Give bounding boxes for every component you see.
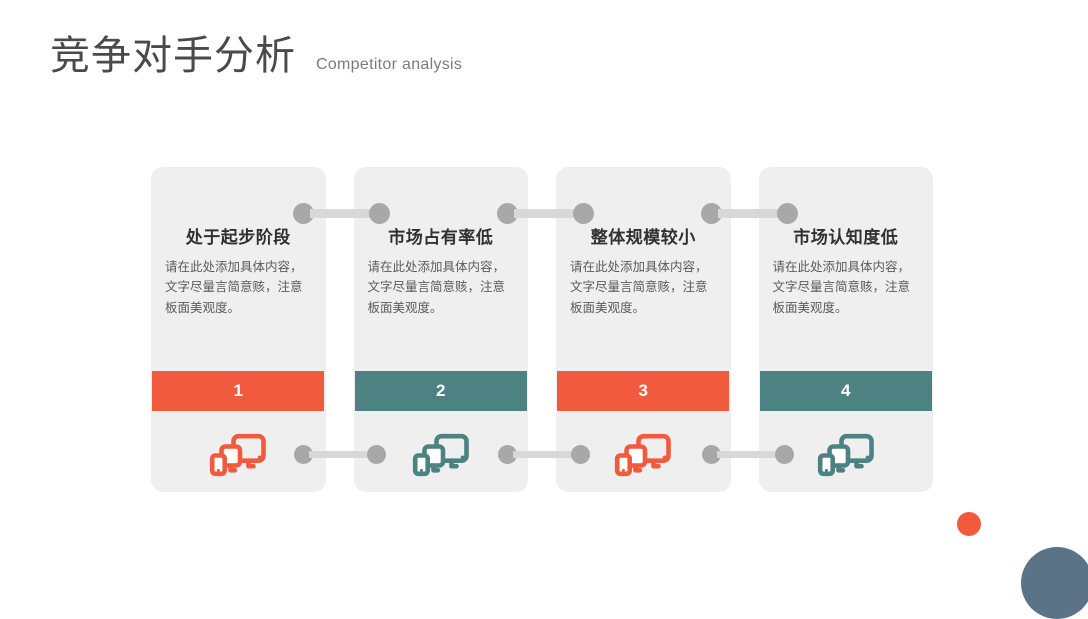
- card-text-panel: 市场认知度低 请在此处添加具体内容，文字尽量言简意赅，注意板面美观度。: [759, 167, 934, 364]
- card-connector-top-1-2: [293, 203, 390, 224]
- connector-bar: [718, 209, 781, 218]
- card-number-label: 2: [436, 381, 445, 401]
- connector-dot-right: [775, 445, 794, 464]
- page-subtitle: Competitor analysis: [316, 56, 462, 74]
- card-connector-top-2-3: [497, 203, 594, 224]
- card-text-panel: 市场占有率低 请在此处添加具体内容，文字尽量言简意赅，注意板面美观度。: [354, 167, 529, 364]
- card-number-band-wrap: 4: [759, 364, 934, 418]
- responsive-devices-icon: [412, 432, 470, 478]
- card-number-label: 3: [639, 381, 648, 401]
- connector-bar: [514, 209, 577, 218]
- card-connector-bottom-2-3: [498, 445, 590, 464]
- card-number-band[interactable]: 3: [557, 371, 729, 411]
- connector-dot-right: [369, 203, 390, 224]
- responsive-devices-icon: [209, 432, 267, 478]
- responsive-devices-icon: [614, 432, 672, 478]
- card-number-band-wrap: 3: [556, 364, 731, 418]
- card-text-panel: 处于起步阶段 请在此处添加具体内容，文字尽量言简意赅，注意板面美观度。: [151, 167, 326, 364]
- connector-dot-right: [777, 203, 798, 224]
- card-number-band-wrap: 1: [151, 364, 326, 418]
- card-connector-bottom-3-4: [702, 445, 794, 464]
- card-number-label: 1: [234, 381, 243, 401]
- responsive-devices-icon: [817, 432, 875, 478]
- card-description: 请在此处添加具体内容，文字尽量言简意赅，注意板面美观度。: [367, 257, 516, 318]
- card-description: 请在此处添加具体内容，文字尽量言简意赅，注意板面美观度。: [164, 257, 313, 318]
- card-text-panel: 整体规模较小 请在此处添加具体内容，文字尽量言简意赅，注意板面美观度。: [556, 167, 731, 364]
- card-connector-bottom-1-2: [294, 445, 386, 464]
- card-heading: 市场认知度低: [772, 223, 921, 248]
- connector-dot-right: [367, 445, 386, 464]
- card-description: 请在此处添加具体内容，文字尽量言简意赅，注意板面美观度。: [772, 257, 921, 318]
- card-number-band[interactable]: 2: [355, 371, 527, 411]
- connector-bar: [513, 451, 575, 458]
- card-number-band[interactable]: 1: [152, 371, 324, 411]
- connector-bar: [310, 209, 373, 218]
- page-title: 竞争对手分析: [50, 36, 296, 76]
- card-description: 请在此处添加具体内容，文字尽量言简意赅，注意板面美观度。: [569, 257, 718, 318]
- decorative-dot-large: [1021, 547, 1088, 619]
- card-connector-top-3-4: [701, 203, 798, 224]
- card-number-band[interactable]: 4: [760, 371, 932, 411]
- card-heading: 整体规模较小: [569, 223, 718, 248]
- card-number-label: 4: [841, 381, 850, 401]
- connector-dot-right: [571, 445, 590, 464]
- connector-bar: [309, 451, 371, 458]
- page-header: 竞争对手分析 Competitor analysis: [50, 36, 462, 76]
- card-heading: 市场占有率低: [367, 223, 516, 248]
- decorative-dot-small: [957, 512, 981, 536]
- card-heading: 处于起步阶段: [164, 223, 313, 248]
- connector-bar: [717, 451, 779, 458]
- card-number-band-wrap: 2: [354, 364, 529, 418]
- connector-dot-right: [573, 203, 594, 224]
